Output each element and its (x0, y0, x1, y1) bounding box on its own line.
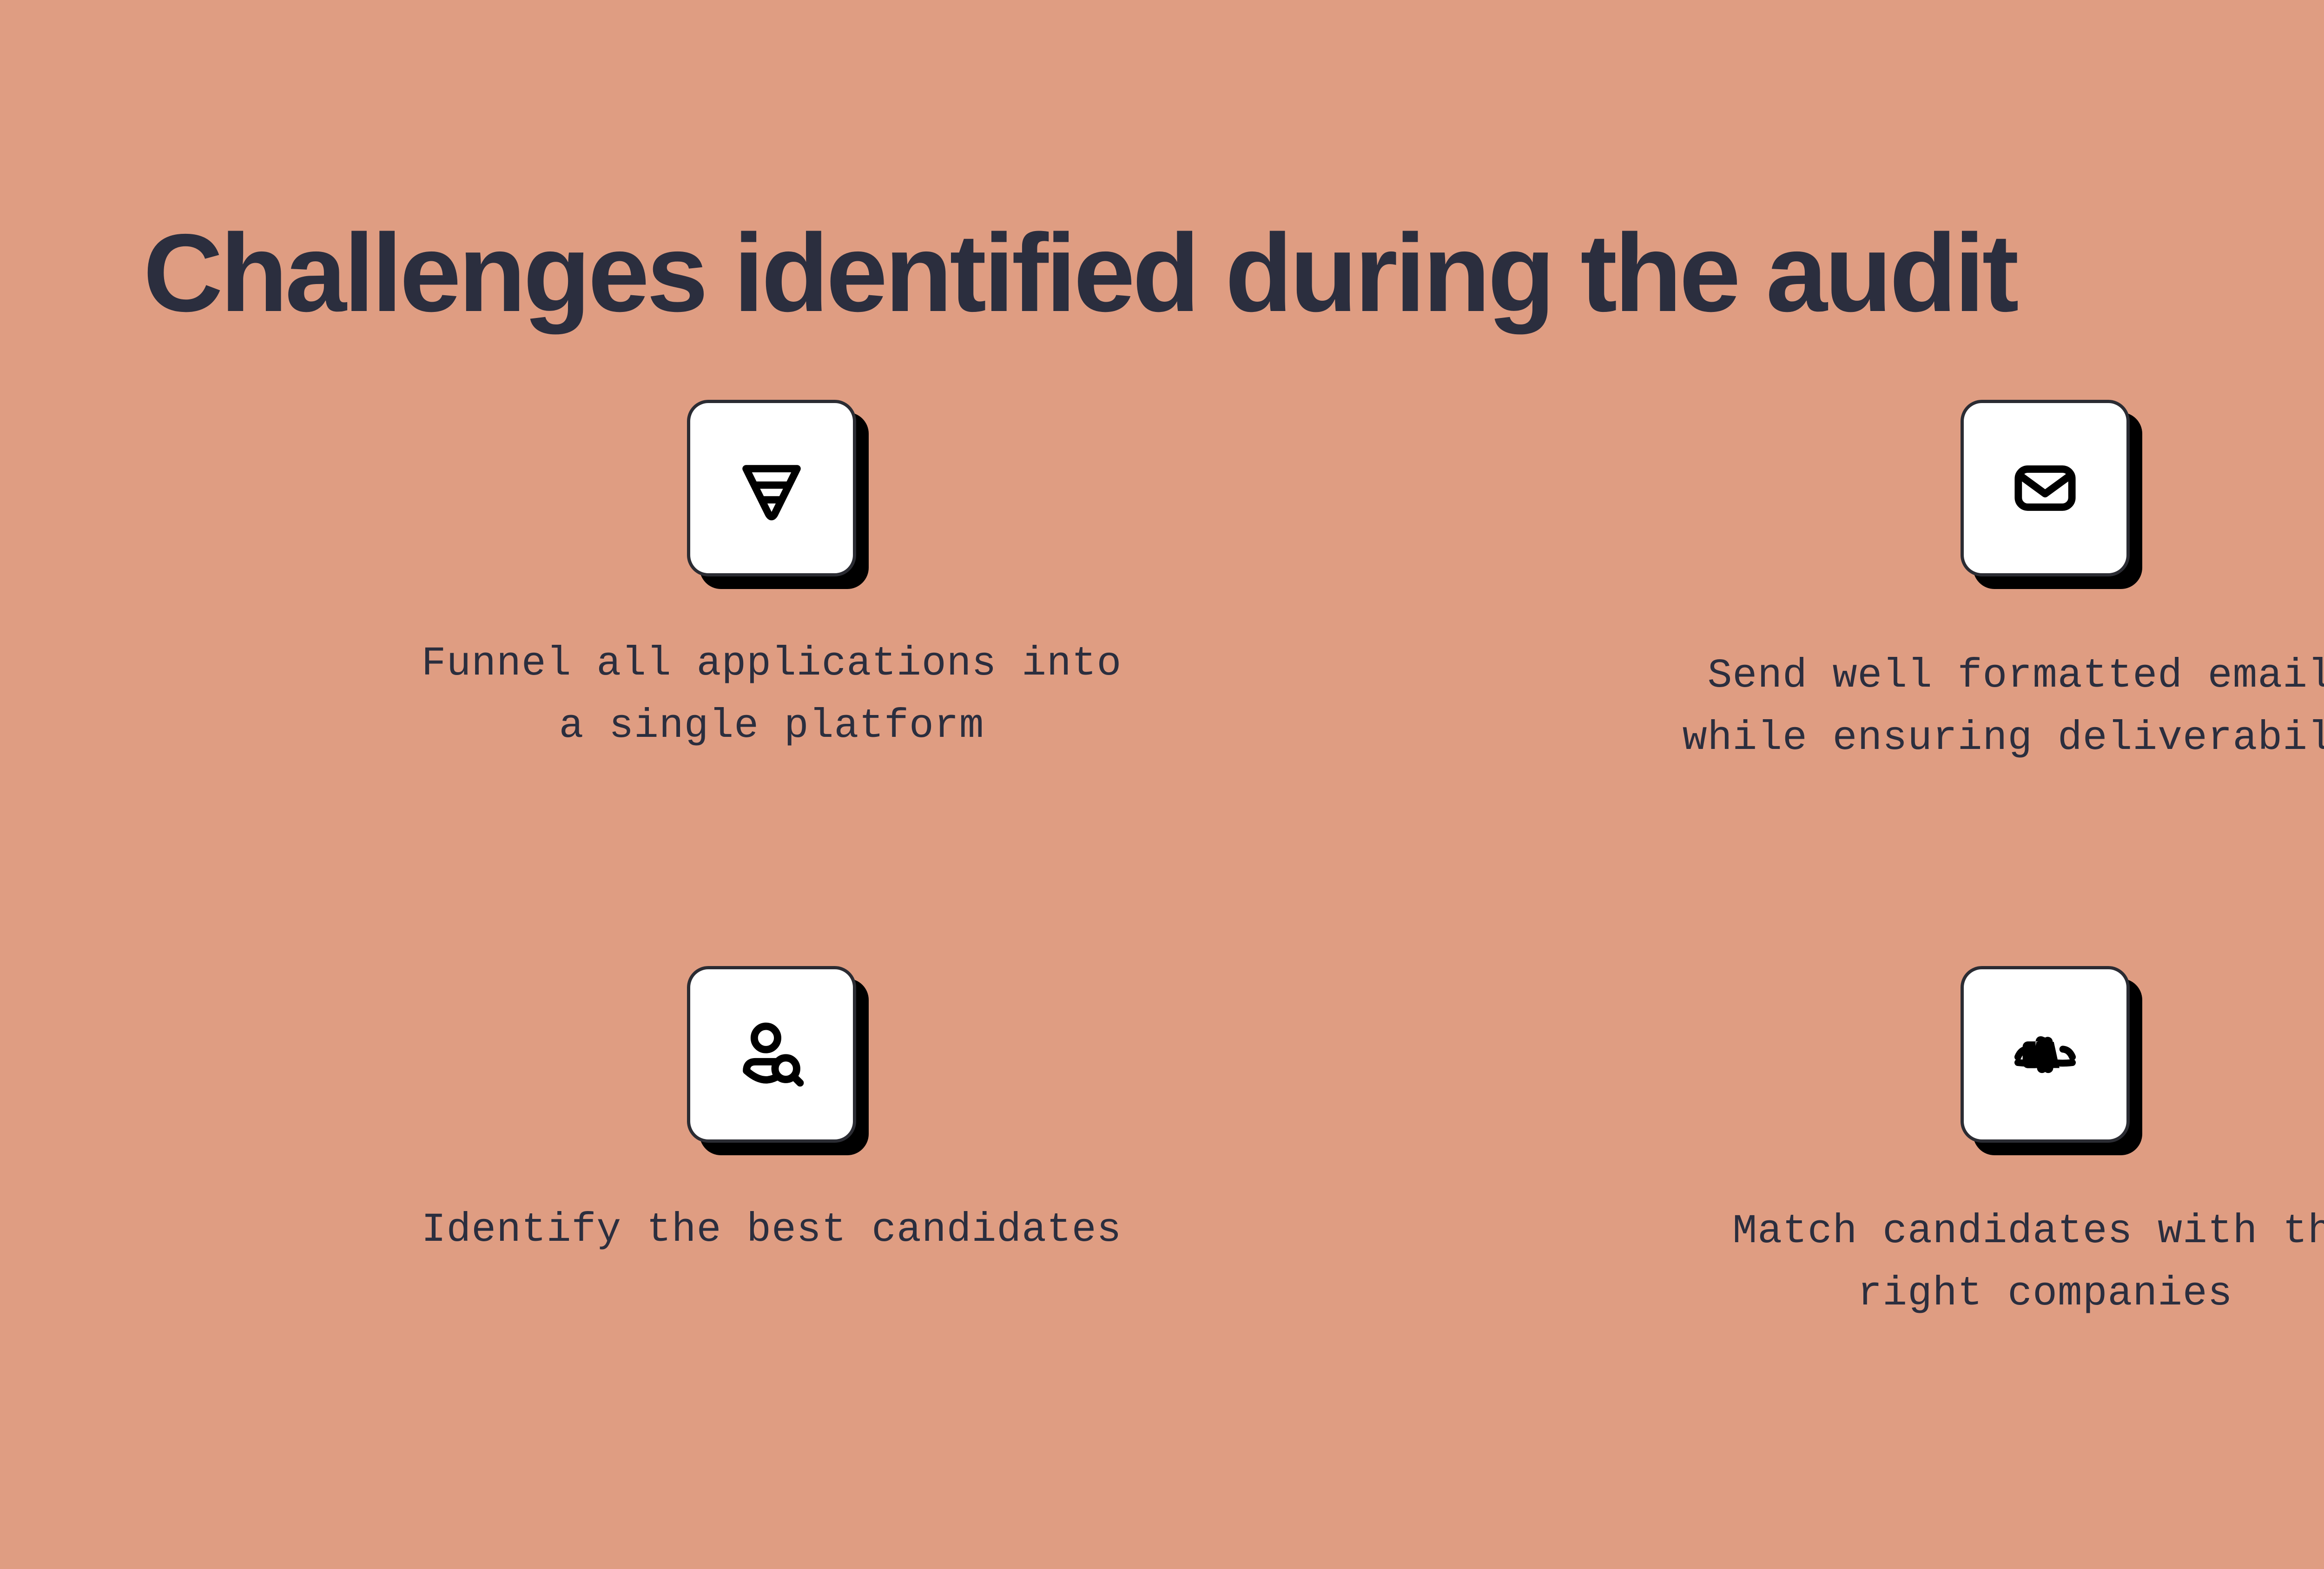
challenge-item-funnel: Funnel all applications into a single pl… (158, 400, 1385, 758)
envelope-icon (2002, 445, 2088, 531)
icon-card-funnel[interactable] (687, 400, 856, 576)
person-search-icon (728, 1011, 815, 1098)
challenge-item-email: Send well formatted emails, while ensuri… (1432, 400, 2324, 770)
page-title: Challenges identified during the audit (143, 213, 2016, 333)
challenge-caption: Funnel all applications into a single pl… (158, 633, 1385, 758)
funnel-icon (728, 445, 815, 531)
challenge-caption: Send well formatted emails, while ensuri… (1432, 645, 2324, 770)
icon-card-match[interactable] (1961, 966, 2130, 1143)
challenge-item-match: Match candidates with the right companie… (1432, 966, 2324, 1325)
challenge-caption: Identify the best candidates (158, 1199, 1385, 1262)
challenges-grid: Funnel all applications into a single pl… (0, 400, 2324, 1376)
icon-card-identify[interactable] (687, 966, 856, 1143)
puzzle-match-icon (2002, 1011, 2088, 1098)
challenge-caption: Match candidates with the right companie… (1432, 1201, 2324, 1325)
challenge-item-identify: Identify the best candidates (158, 966, 1385, 1262)
icon-card-email[interactable] (1961, 400, 2130, 576)
